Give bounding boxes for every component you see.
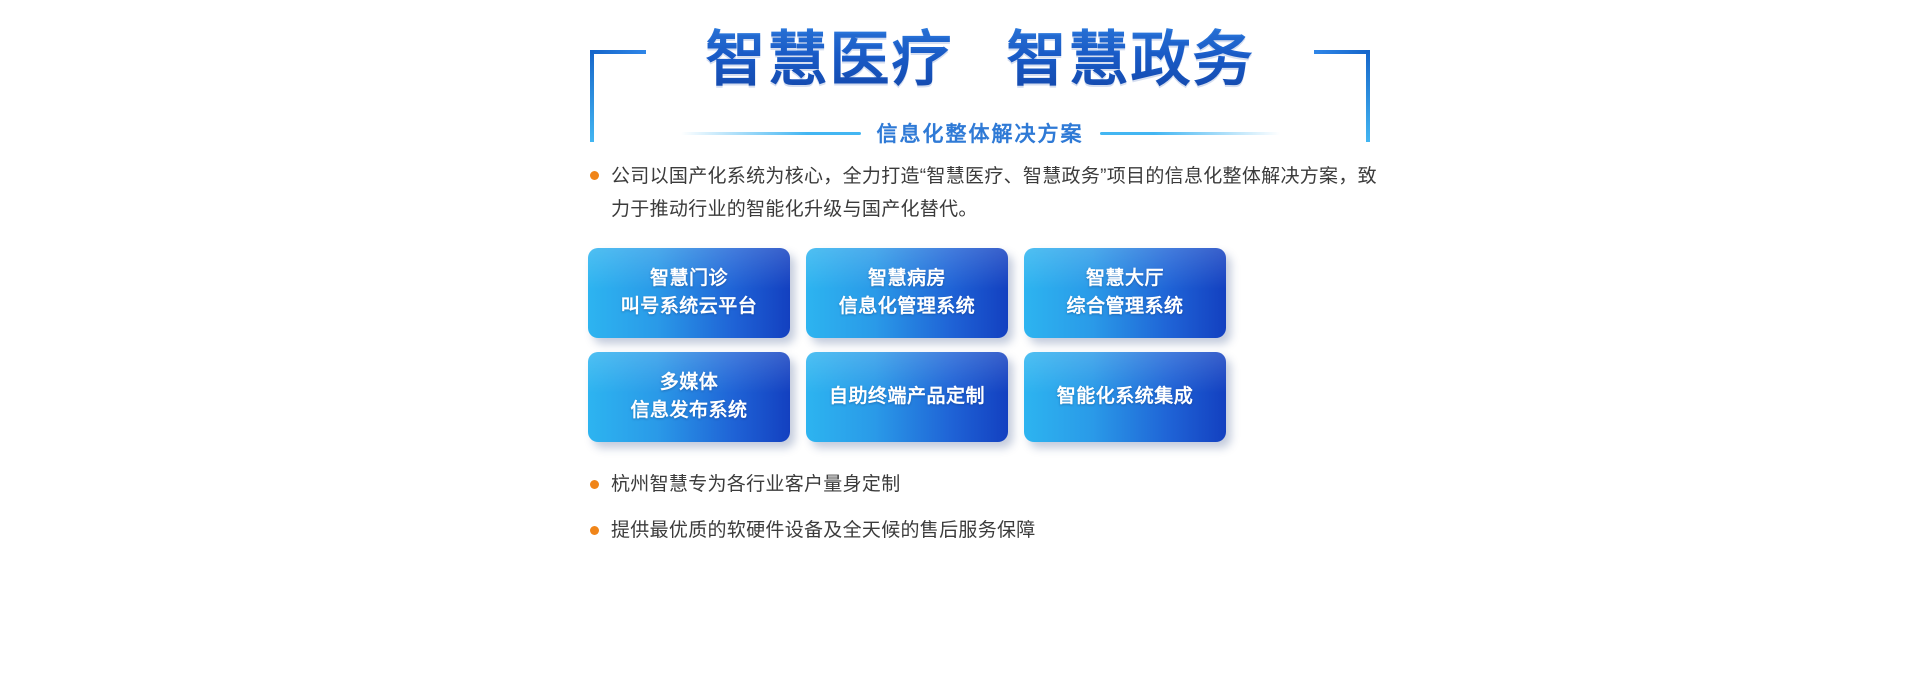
subtitle-row: 信息化整体解决方案 bbox=[590, 118, 1370, 148]
card-intelligent-integration[interactable]: 智能化系统集成 bbox=[1024, 352, 1226, 442]
subtitle-rule-left bbox=[681, 132, 861, 135]
solution-card-grid: 智慧门诊 叫号系统云平台 智慧病房 信息化管理系统 智慧大厅 综合管理系统 多媒… bbox=[588, 248, 1226, 442]
list-item: 杭州智慧专为各行业客户量身定制 bbox=[590, 472, 1350, 498]
bullet-dot-icon bbox=[590, 171, 599, 180]
card-smart-hall[interactable]: 智慧大厅 综合管理系统 bbox=[1024, 248, 1226, 338]
title-part-government: 智慧政务 bbox=[1006, 22, 1254, 98]
card-label: 智慧大厅 综合管理系统 bbox=[1066, 265, 1183, 321]
subtitle-text: 信息化整体解决方案 bbox=[877, 118, 1084, 148]
page-title: 智慧医疗 智慧政务 bbox=[590, 22, 1370, 98]
card-smart-ward[interactable]: 智慧病房 信息化管理系统 bbox=[806, 248, 1008, 338]
card-smart-outpatient[interactable]: 智慧门诊 叫号系统云平台 bbox=[588, 248, 790, 338]
banner-stage: 智慧医疗 智慧政务 信息化整体解决方案 公司以国产化系统为核心，全力打造“智慧医… bbox=[0, 0, 1920, 680]
title-part-healthcare: 智慧医疗 bbox=[706, 22, 954, 98]
card-self-service-terminal[interactable]: 自助终端产品定制 bbox=[806, 352, 1008, 442]
card-label: 智慧门诊 叫号系统云平台 bbox=[621, 265, 758, 321]
card-label: 智慧病房 信息化管理系统 bbox=[839, 265, 976, 321]
bullet-dot-icon bbox=[590, 526, 599, 535]
bullet-list: 杭州智慧专为各行业客户量身定制 提供最优质的软硬件设备及全天候的售后服务保障 bbox=[590, 472, 1350, 564]
card-label: 多媒体 信息发布系统 bbox=[630, 369, 747, 425]
intro-text: 公司以国产化系统为核心，全力打造“智慧医疗、智慧政务”项目的信息化整体解决方案，… bbox=[611, 160, 1380, 226]
bullet-text: 杭州智慧专为各行业客户量身定制 bbox=[611, 472, 901, 498]
bullet-text: 提供最优质的软硬件设备及全天候的售后服务保障 bbox=[611, 518, 1036, 544]
list-item: 提供最优质的软硬件设备及全天候的售后服务保障 bbox=[590, 518, 1350, 544]
intro-paragraph: 公司以国产化系统为核心，全力打造“智慧医疗、智慧政务”项目的信息化整体解决方案，… bbox=[590, 160, 1380, 226]
bullet-dot-icon bbox=[590, 480, 599, 489]
header-block: 智慧医疗 智慧政务 信息化整体解决方案 bbox=[590, 22, 1370, 142]
card-label: 智能化系统集成 bbox=[1057, 383, 1194, 411]
card-multimedia-publishing[interactable]: 多媒体 信息发布系统 bbox=[588, 352, 790, 442]
card-label: 自助终端产品定制 bbox=[829, 383, 985, 411]
subtitle-rule-right bbox=[1100, 132, 1280, 135]
